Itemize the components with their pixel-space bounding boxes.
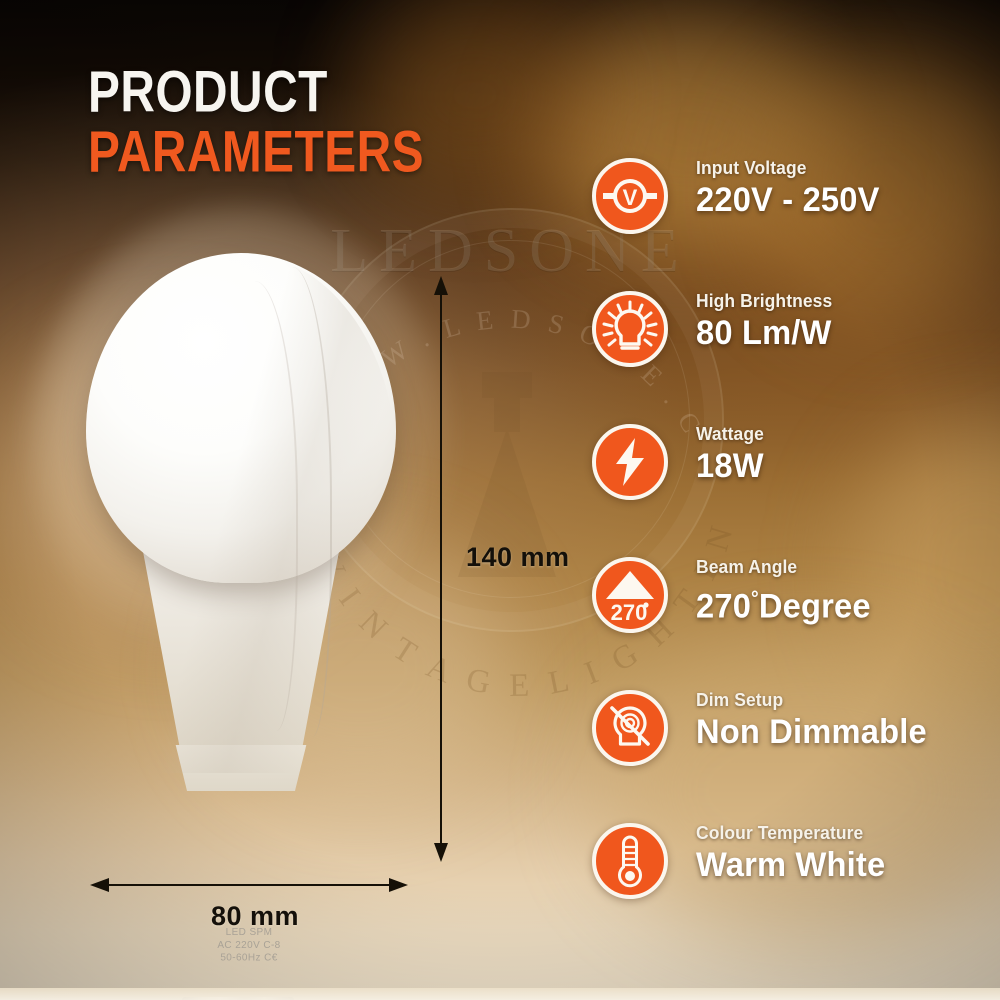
spec-label: Beam Angle [696, 557, 987, 578]
spec-value: Warm White [696, 845, 984, 885]
dimension-line [440, 288, 442, 850]
title-line-product: PRODUCT [88, 62, 424, 122]
bulb-lower-neck [170, 745, 312, 791]
voltage-icon: V [592, 158, 668, 234]
spec-row-input-voltage: V Input Voltage 220V - 250V [592, 150, 992, 283]
beam-angle-unit: Degree [759, 587, 871, 625]
width-dimension-label: 80 mm [211, 901, 299, 932]
height-dimension-label: 140 mm [466, 542, 570, 573]
width-dimension-arrow [90, 878, 408, 892]
spec-value: Non Dimmable [696, 712, 984, 752]
arrow-head-right-icon [389, 878, 408, 892]
bottom-edge-strip [0, 988, 1000, 1000]
beam-angle-number: 270 [696, 587, 751, 625]
spec-text-beam-angle: Beam Angle 270°Degree [696, 557, 996, 626]
spec-value: 80 Lm/W [696, 313, 984, 353]
spec-row-beam-angle: 270 Beam Angle 270°Degree [592, 549, 992, 682]
spec-row-colour-temperature: Colour Temperature Warm White [592, 815, 992, 948]
spec-value: 220V - 250V [696, 180, 984, 220]
spec-label: Colour Temperature [696, 823, 987, 844]
spec-label: Input Voltage [696, 158, 987, 179]
height-dimension-arrow [434, 276, 448, 862]
lightning-bolt-icon [592, 424, 668, 500]
spec-value: 18W [696, 446, 984, 486]
infographic-canvas: LEDSONE W W W . L E D S O N E . C O . U … [0, 0, 1000, 1000]
spec-row-wattage: Wattage 18W [592, 416, 992, 549]
arrow-head-down-icon [434, 843, 448, 862]
spec-text-high-brightness: High Brightness 80 Lm/W [696, 291, 996, 353]
spec-row-dim-setup: Dim Setup Non Dimmable [592, 682, 992, 815]
spec-label: Dim Setup [696, 690, 987, 711]
svg-text:V: V [623, 185, 638, 210]
title-line-parameters: PARAMETERS [88, 122, 424, 182]
brightness-bulb-icon [592, 291, 668, 367]
no-dimmer-icon [592, 690, 668, 766]
beam-angle-cone-icon: 270 [592, 557, 668, 633]
bulb-printed-label: LED SPM AC 220V C-8 50-60Hz C€ [174, 927, 324, 965]
product-bulb-image: LED SPM AC 220V C-8 50-60Hz C€ [78, 245, 398, 885]
degree-symbol: ° [751, 588, 759, 610]
page-title: PRODUCT PARAMETERS [88, 62, 453, 176]
bulb-label-line-2: AC 220V C-8 [174, 939, 324, 952]
spec-label: High Brightness [696, 291, 987, 312]
spec-text-dim-setup: Dim Setup Non Dimmable [696, 690, 996, 752]
spec-text-wattage: Wattage 18W [696, 424, 996, 486]
spec-label: Wattage [696, 424, 987, 445]
spec-row-high-brightness: High Brightness 80 Lm/W [592, 283, 992, 416]
bulb-label-line-3: 50-60Hz C€ [174, 952, 324, 965]
spec-value: 270°Degree [696, 579, 984, 626]
dimension-line [102, 884, 396, 886]
spec-list: V Input Voltage 220V - 250V [592, 150, 992, 948]
spec-text-input-voltage: Input Voltage 220V - 250V [696, 158, 996, 220]
beam-angle-icon-text: 270 [611, 600, 648, 625]
spec-text-colour-temperature: Colour Temperature Warm White [696, 823, 996, 885]
thermometer-icon [592, 823, 668, 899]
